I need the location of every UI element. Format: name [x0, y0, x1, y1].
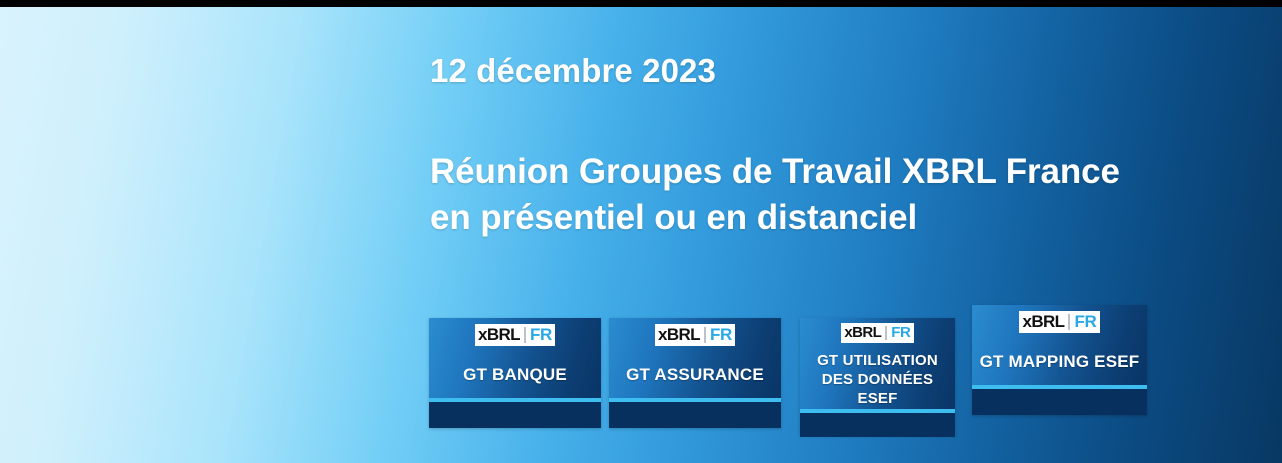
- card-label-line-1: GT UTILISATION: [800, 351, 955, 370]
- card-body: xBRL FR GT BANQUE: [429, 318, 601, 398]
- banner-title-line-2: en présentiel ou en distanciel: [430, 195, 1190, 241]
- card-label: GT UTILISATION DES DONNÉES ESEF: [800, 351, 955, 409]
- card-body: xBRL FR GT ASSURANCE: [609, 318, 781, 398]
- card-body: xBRL FR GT UTILISATION DES DONNÉES ESEF: [800, 318, 955, 409]
- logo-separator-icon: [885, 326, 887, 340]
- card-gt-banque[interactable]: xBRL FR GT BANQUE: [429, 318, 601, 428]
- logo-xbrl-text: xBRL: [478, 326, 520, 343]
- card-label: GT MAPPING ESEF: [972, 352, 1147, 372]
- xbrl-fr-logo-icon: xBRL FR: [475, 324, 555, 346]
- card-footer-bar: [800, 413, 955, 437]
- banner-text-block: 12 décembre 2023 Réunion Groupes de Trav…: [430, 52, 1190, 241]
- card-body: xBRL FR GT MAPPING ESEF: [972, 305, 1147, 385]
- logo-xbrl-text: xBRL: [658, 326, 700, 343]
- card-label: GT BANQUE: [429, 365, 601, 385]
- logo-separator-icon: [1068, 314, 1070, 330]
- logo-fr-text: FR: [1074, 313, 1096, 330]
- banner-title: Réunion Groupes de Travail XBRL France e…: [430, 149, 1190, 241]
- card-footer-bar: [429, 402, 601, 428]
- logo-xbrl-text: xBRL: [1022, 313, 1064, 330]
- logo-fr-text: FR: [710, 326, 732, 343]
- xbrl-fr-logo-icon: xBRL FR: [1019, 311, 1099, 333]
- logo-fr-text: FR: [891, 325, 910, 340]
- logo-fr-text: FR: [530, 326, 552, 343]
- xbrl-fr-logo-icon: xBRL FR: [841, 323, 913, 343]
- logo-xbrl-text: xBRL: [844, 325, 881, 340]
- card-label-line-1: GT BANQUE: [429, 365, 601, 385]
- card-label-line-1: GT MAPPING ESEF: [972, 352, 1147, 372]
- card-label-line-1: GT ASSURANCE: [609, 365, 781, 385]
- card-footer-bar: [972, 389, 1147, 415]
- top-black-strip: [0, 0, 1282, 7]
- event-date: 12 décembre 2023: [430, 52, 1190, 91]
- card-label-line-2: DES DONNÉES ESEF: [800, 370, 955, 408]
- card-label: GT ASSURANCE: [609, 365, 781, 385]
- card-footer-bar: [609, 402, 781, 428]
- xbrl-fr-logo-icon: xBRL FR: [655, 324, 735, 346]
- banner-title-line-1: Réunion Groupes de Travail XBRL France: [430, 149, 1190, 195]
- card-gt-utilisation-donnees-esef[interactable]: xBRL FR GT UTILISATION DES DONNÉES ESEF: [800, 318, 955, 435]
- card-gt-assurance[interactable]: xBRL FR GT ASSURANCE: [609, 318, 781, 428]
- logo-separator-icon: [704, 327, 706, 343]
- card-gt-mapping-esef[interactable]: xBRL FR GT MAPPING ESEF: [972, 305, 1147, 415]
- logo-separator-icon: [524, 327, 526, 343]
- xbrl-france-banner: 12 décembre 2023 Réunion Groupes de Trav…: [0, 0, 1282, 463]
